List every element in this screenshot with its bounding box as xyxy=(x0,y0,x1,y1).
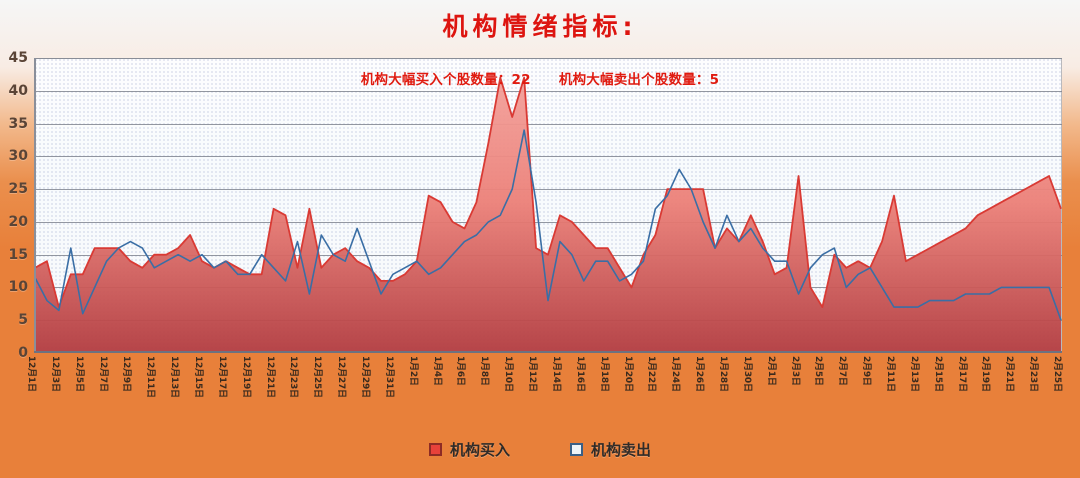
x-axis-tick-label: 1月26日 xyxy=(694,356,707,392)
x-axis-tick-label: 12月5日 xyxy=(74,356,87,392)
page-title: 机构情绪指标: xyxy=(443,7,638,43)
legend-item-buy[interactable]: 机构买入 xyxy=(429,439,510,460)
x-axis-tick-label: 12月11日 xyxy=(145,356,158,398)
y-axis-tick-label: 5 xyxy=(2,312,28,328)
x-axis-tick-label: 1月2日 xyxy=(408,356,421,386)
x-axis-tick-label: 12月31日 xyxy=(384,356,397,398)
x-axis-tick-label: 2月5日 xyxy=(813,356,826,386)
y-axis-tick-label: 45 xyxy=(2,50,28,66)
x-axis-tick-label: 1月4日 xyxy=(432,356,445,386)
x-axis-tick-label: 2月1日 xyxy=(766,356,779,386)
x-axis-tick-label: 12月25日 xyxy=(312,356,325,398)
chart-title-bar: 机构情绪指标: xyxy=(0,4,1080,46)
y-axis-tick-label: 20 xyxy=(2,214,28,230)
y-axis-tick-label: 0 xyxy=(2,345,28,361)
x-axis-tick-label: 1月22日 xyxy=(646,356,659,392)
y-axis-tick-label: 10 xyxy=(2,279,28,295)
y-axis-tick-label: 30 xyxy=(2,148,28,164)
chart-page: 机构情绪指标: 051015202530354045 机构大幅买入个股数量：22… xyxy=(0,0,1080,478)
x-axis-tick-label: 1月8日 xyxy=(479,356,492,386)
x-axis-tick-label: 2月23日 xyxy=(1028,356,1041,392)
y-axis-line xyxy=(34,58,36,353)
legend-label-sell: 机构卖出 xyxy=(591,439,651,460)
x-axis-tick-label: 2月7日 xyxy=(837,356,850,386)
x-axis-tick-label: 2月17日 xyxy=(957,356,970,392)
x-axis-tick-label: 12月23日 xyxy=(288,356,301,398)
x-axis-tick-label: 2月11日 xyxy=(885,356,898,392)
legend-swatch-buy-icon xyxy=(429,443,442,456)
x-axis-tick-label: 12月17日 xyxy=(217,356,230,398)
x-axis-tick-label: 2月21日 xyxy=(1004,356,1017,392)
x-axis-tick-label: 1月28日 xyxy=(718,356,731,392)
x-axis-tick-label: 1月10日 xyxy=(503,356,516,392)
x-axis-tick-label: 12月19日 xyxy=(241,356,254,398)
chart-legend: 机构买入 机构卖出 xyxy=(0,432,1080,466)
x-axis-line xyxy=(34,351,1062,353)
y-axis-tick-label: 25 xyxy=(2,181,28,197)
x-axis-tick-label: 2月9日 xyxy=(861,356,874,386)
x-axis-tick-label: 12月3日 xyxy=(50,356,63,392)
x-axis-tick-label: 1月30日 xyxy=(742,356,755,392)
x-axis-tick-label: 12月21日 xyxy=(265,356,278,398)
x-axis-tick-label: 12月7日 xyxy=(98,356,111,392)
x-axis-labels: 12月1日12月3日12月5日12月7日12月9日12月11日12月13日12月… xyxy=(34,356,1062,414)
x-axis-tick-label: 1月16日 xyxy=(575,356,588,392)
x-axis-tick-label: 2月15日 xyxy=(933,356,946,392)
x-axis-tick-label: 2月25日 xyxy=(1052,356,1065,392)
y-axis-tick-label: 15 xyxy=(2,247,28,263)
x-axis-tick-label: 1月20日 xyxy=(623,356,636,392)
x-axis-tick-label: 12月27日 xyxy=(336,356,349,398)
x-axis-tick-label: 1月12日 xyxy=(527,356,540,392)
x-axis-tick-label: 1月6日 xyxy=(455,356,468,386)
legend-label-buy: 机构买入 xyxy=(450,439,510,460)
legend-swatch-sell-icon xyxy=(570,443,583,456)
x-axis-tick-label: 2月19日 xyxy=(980,356,993,392)
x-axis-tick-label: 12月13日 xyxy=(169,356,182,398)
x-axis-tick-label: 12月15日 xyxy=(193,356,206,398)
x-axis-tick-label: 2月13日 xyxy=(909,356,922,392)
x-axis-tick-label: 1月18日 xyxy=(599,356,612,392)
plot-area xyxy=(34,58,1062,353)
x-axis-tick-label: 12月9日 xyxy=(121,356,134,392)
chart-canvas xyxy=(34,58,1062,353)
series-area-0 xyxy=(35,78,1061,353)
x-axis-tick-label: 1月24日 xyxy=(670,356,683,392)
y-axis-tick-label: 40 xyxy=(2,83,28,99)
x-axis-tick-label: 1月14日 xyxy=(551,356,564,392)
x-axis-tick-label: 12月1日 xyxy=(26,356,39,392)
legend-item-sell[interactable]: 机构卖出 xyxy=(570,439,651,460)
y-axis-tick-label: 35 xyxy=(2,116,28,132)
x-axis-tick-label: 2月3日 xyxy=(790,356,803,386)
x-axis-tick-label: 12月29日 xyxy=(360,356,373,398)
